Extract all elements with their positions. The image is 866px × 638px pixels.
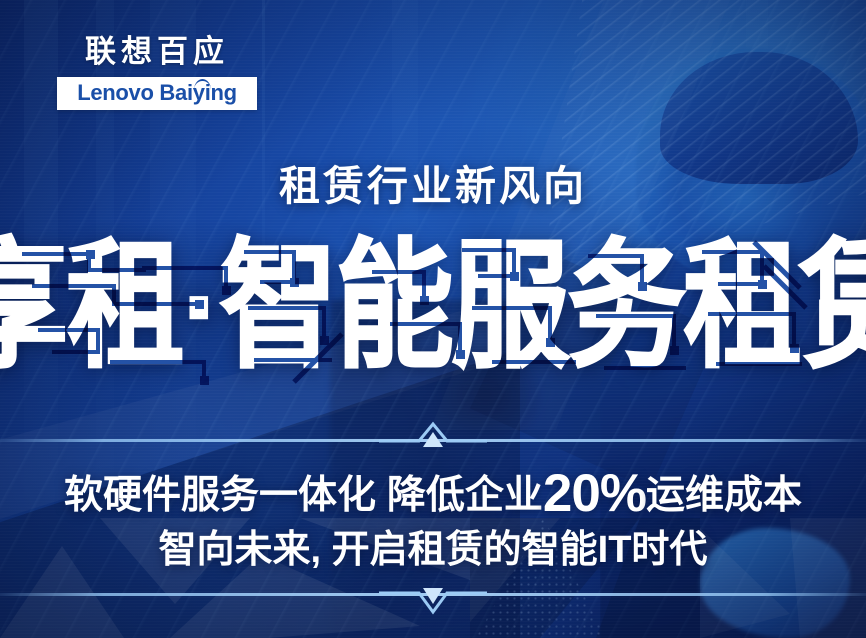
tagline-secondary: 智向未来, 开启租赁的智能IT时代 <box>0 518 866 573</box>
logo[interactable]: 联想百应 Lenovo Baiying <box>57 36 257 110</box>
logo-badge: Lenovo Baiying <box>57 77 257 110</box>
chevron-down-divider-icon <box>373 572 493 616</box>
tagline-primary: 软硬件服务一体化 降低企业20%运维成本 <box>0 463 866 524</box>
tagline-primary-highlight: 20% <box>543 464 646 523</box>
promotional-banner: 联想百应 Lenovo Baiying 租赁行业新风向 享租·智能服务租赁 <box>0 0 866 638</box>
logo-chinese-name: 联想百应 <box>57 36 257 69</box>
logo-badge-label: Lenovo Baiying <box>77 82 237 104</box>
headline-text: 享租·智能服务租赁 <box>0 237 866 376</box>
tagline-primary-part2: 运维成本 <box>646 474 802 517</box>
tagline-primary-part1: 软硬件服务一体化 降低企业 <box>64 474 543 517</box>
chevron-up-divider-icon <box>373 418 493 462</box>
eyebrow-heading: 租赁行业新风向 <box>0 152 866 212</box>
divider-bottom <box>0 572 866 616</box>
divider-top <box>0 418 866 462</box>
logo-badge-text: Lenovo Baiying <box>77 80 237 105</box>
headline-container: 享租·智能服务租赁 <box>0 222 866 392</box>
